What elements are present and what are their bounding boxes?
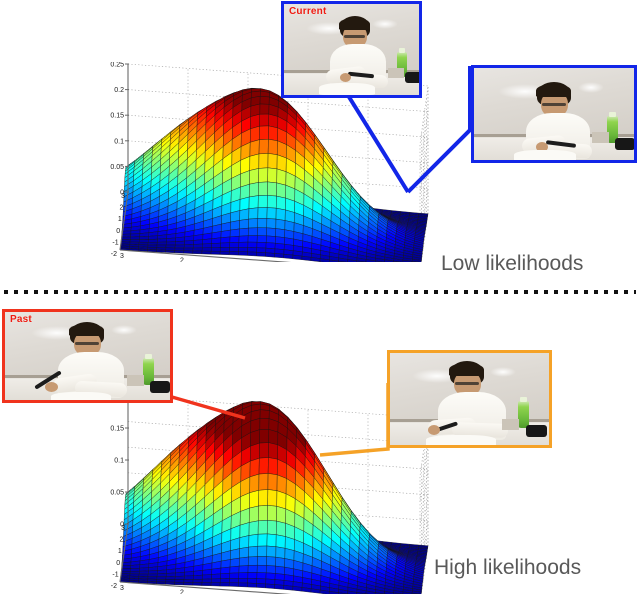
wall-socket bbox=[388, 68, 404, 78]
bottle bbox=[518, 401, 529, 428]
svg-text:3: 3 bbox=[120, 253, 124, 260]
current-frame[interactable]: Current bbox=[281, 1, 422, 98]
current-frame-zoom[interactable] bbox=[471, 65, 637, 163]
svg-text:-1: -1 bbox=[112, 239, 118, 246]
hair-top bbox=[449, 363, 484, 376]
bottle-cap bbox=[520, 397, 527, 402]
svg-text:0: 0 bbox=[116, 228, 120, 235]
svg-text:2: 2 bbox=[119, 537, 123, 544]
past-frame[interactable]: Past bbox=[2, 309, 173, 403]
paper bbox=[514, 150, 576, 160]
current-frame-zoom-scene bbox=[474, 68, 634, 160]
bottle-cap bbox=[145, 354, 152, 359]
svg-text:2: 2 bbox=[119, 205, 123, 212]
matched-frame[interactable] bbox=[387, 350, 552, 448]
caption-high-likelihoods: High likelihoods bbox=[434, 556, 581, 580]
svg-text:0.25: 0.25 bbox=[110, 62, 124, 69]
svg-text:0.15: 0.15 bbox=[110, 426, 124, 433]
frame-tag-current: Current bbox=[289, 6, 327, 17]
svg-text:0.1: 0.1 bbox=[114, 138, 124, 145]
svg-text:1: 1 bbox=[118, 548, 122, 555]
svg-text:3: 3 bbox=[121, 525, 125, 532]
person bbox=[328, 16, 390, 90]
hair-top bbox=[69, 324, 104, 336]
camera bbox=[150, 381, 170, 393]
bottle-cap bbox=[609, 112, 616, 117]
hair-top bbox=[339, 18, 370, 30]
hand bbox=[45, 382, 58, 392]
past-frame-scene bbox=[5, 312, 170, 400]
svg-text:2: 2 bbox=[180, 257, 184, 262]
person bbox=[524, 82, 598, 160]
svg-text:0: 0 bbox=[116, 560, 120, 567]
paper bbox=[51, 392, 111, 400]
svg-text:0.15: 0.15 bbox=[110, 113, 124, 120]
svg-text:3: 3 bbox=[121, 193, 125, 200]
section-divider bbox=[4, 290, 636, 294]
svg-text:-2: -2 bbox=[111, 583, 117, 590]
svg-text:-1: -1 bbox=[112, 571, 118, 578]
svg-text:0.1: 0.1 bbox=[114, 458, 124, 465]
glasses bbox=[542, 103, 566, 106]
person bbox=[57, 322, 133, 398]
svg-text:2: 2 bbox=[180, 589, 184, 594]
frame-tag-past: Past bbox=[10, 314, 32, 325]
paper bbox=[426, 435, 496, 445]
matched-frame-scene bbox=[390, 353, 549, 445]
paper bbox=[319, 83, 375, 95]
glasses bbox=[344, 35, 365, 38]
svg-text:1: 1 bbox=[118, 216, 122, 223]
hand bbox=[428, 425, 440, 435]
svg-text:-2: -2 bbox=[111, 251, 117, 258]
wall-socket bbox=[592, 132, 609, 143]
caption-low-likelihoods: Low likelihoods bbox=[441, 252, 583, 276]
svg-text:0.05: 0.05 bbox=[110, 490, 124, 497]
hair-top bbox=[536, 84, 571, 97]
top-panel: 0.250.20.150.10.0503210-1-23210-1-2 bbox=[0, 0, 640, 292]
wall-socket bbox=[127, 375, 144, 386]
camera bbox=[615, 138, 634, 150]
wall-socket bbox=[502, 419, 519, 430]
svg-text:3: 3 bbox=[120, 585, 124, 592]
glasses bbox=[455, 382, 479, 385]
svg-text:0.05: 0.05 bbox=[110, 164, 124, 171]
hand bbox=[340, 73, 351, 82]
camera bbox=[405, 72, 419, 83]
svg-text:0.2: 0.2 bbox=[114, 87, 124, 94]
camera bbox=[526, 425, 547, 437]
current-frame-scene bbox=[284, 4, 419, 95]
glasses bbox=[75, 342, 99, 345]
bottle-cap bbox=[399, 48, 405, 53]
